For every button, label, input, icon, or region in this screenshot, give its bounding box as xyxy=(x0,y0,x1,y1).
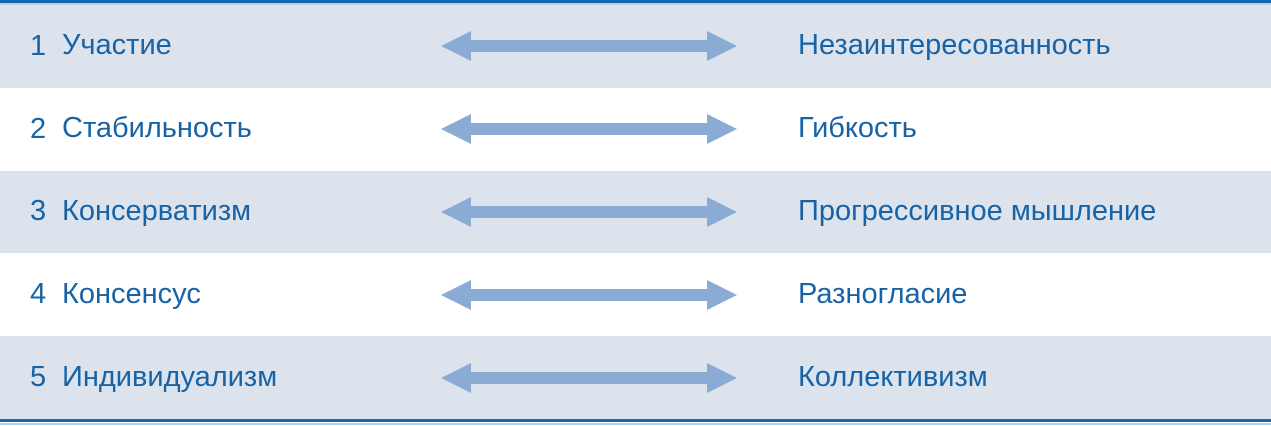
table-row: 5 Индивидуализм Коллективизм xyxy=(0,336,1271,419)
polarity-scale-table: 1 Участие Незаинтересованность 2 Стабиль… xyxy=(0,0,1271,426)
row-left-label: Индивидуализм xyxy=(62,362,387,394)
scale-row-list: 1 Участие Незаинтересованность 2 Стабиль… xyxy=(0,5,1271,419)
double-headed-horizontal-arrow-icon xyxy=(441,29,737,63)
double-headed-horizontal-arrow-icon xyxy=(441,195,737,229)
row-arrow-cell xyxy=(387,29,790,63)
table-row: 3 Консерватизм Прогрессивное мышление xyxy=(0,171,1271,254)
row-right-label: Разногласие xyxy=(790,279,1271,311)
bottom-border-rule xyxy=(0,419,1271,422)
double-headed-horizontal-arrow-icon xyxy=(441,112,737,146)
row-arrow-cell xyxy=(387,195,790,229)
row-left-label: Стабильность xyxy=(62,113,387,145)
row-right-label: Незаинтересованность xyxy=(790,30,1271,62)
row-left-label: Консерватизм xyxy=(62,196,387,228)
table-row: 1 Участие Незаинтересованность xyxy=(0,5,1271,88)
bottom-border-rule-soft xyxy=(0,423,1271,425)
row-index: 1 xyxy=(0,32,62,61)
row-arrow-cell xyxy=(387,361,790,395)
table-row: 4 Консенсус Разногласие xyxy=(0,253,1271,336)
row-left-label: Участие xyxy=(62,30,387,62)
row-index: 4 xyxy=(0,280,62,309)
row-index: 2 xyxy=(0,115,62,144)
row-index: 3 xyxy=(0,197,62,226)
row-index: 5 xyxy=(0,363,62,392)
row-left-label: Консенсус xyxy=(62,279,387,311)
row-right-label: Гибкость xyxy=(790,113,1271,145)
row-right-label: Коллективизм xyxy=(790,362,1271,394)
row-arrow-cell xyxy=(387,112,790,146)
row-right-label: Прогрессивное мышление xyxy=(790,196,1271,228)
row-arrow-cell xyxy=(387,278,790,312)
double-headed-horizontal-arrow-icon xyxy=(441,278,737,312)
double-headed-horizontal-arrow-icon xyxy=(441,361,737,395)
table-row: 2 Стабильность Гибкость xyxy=(0,88,1271,171)
